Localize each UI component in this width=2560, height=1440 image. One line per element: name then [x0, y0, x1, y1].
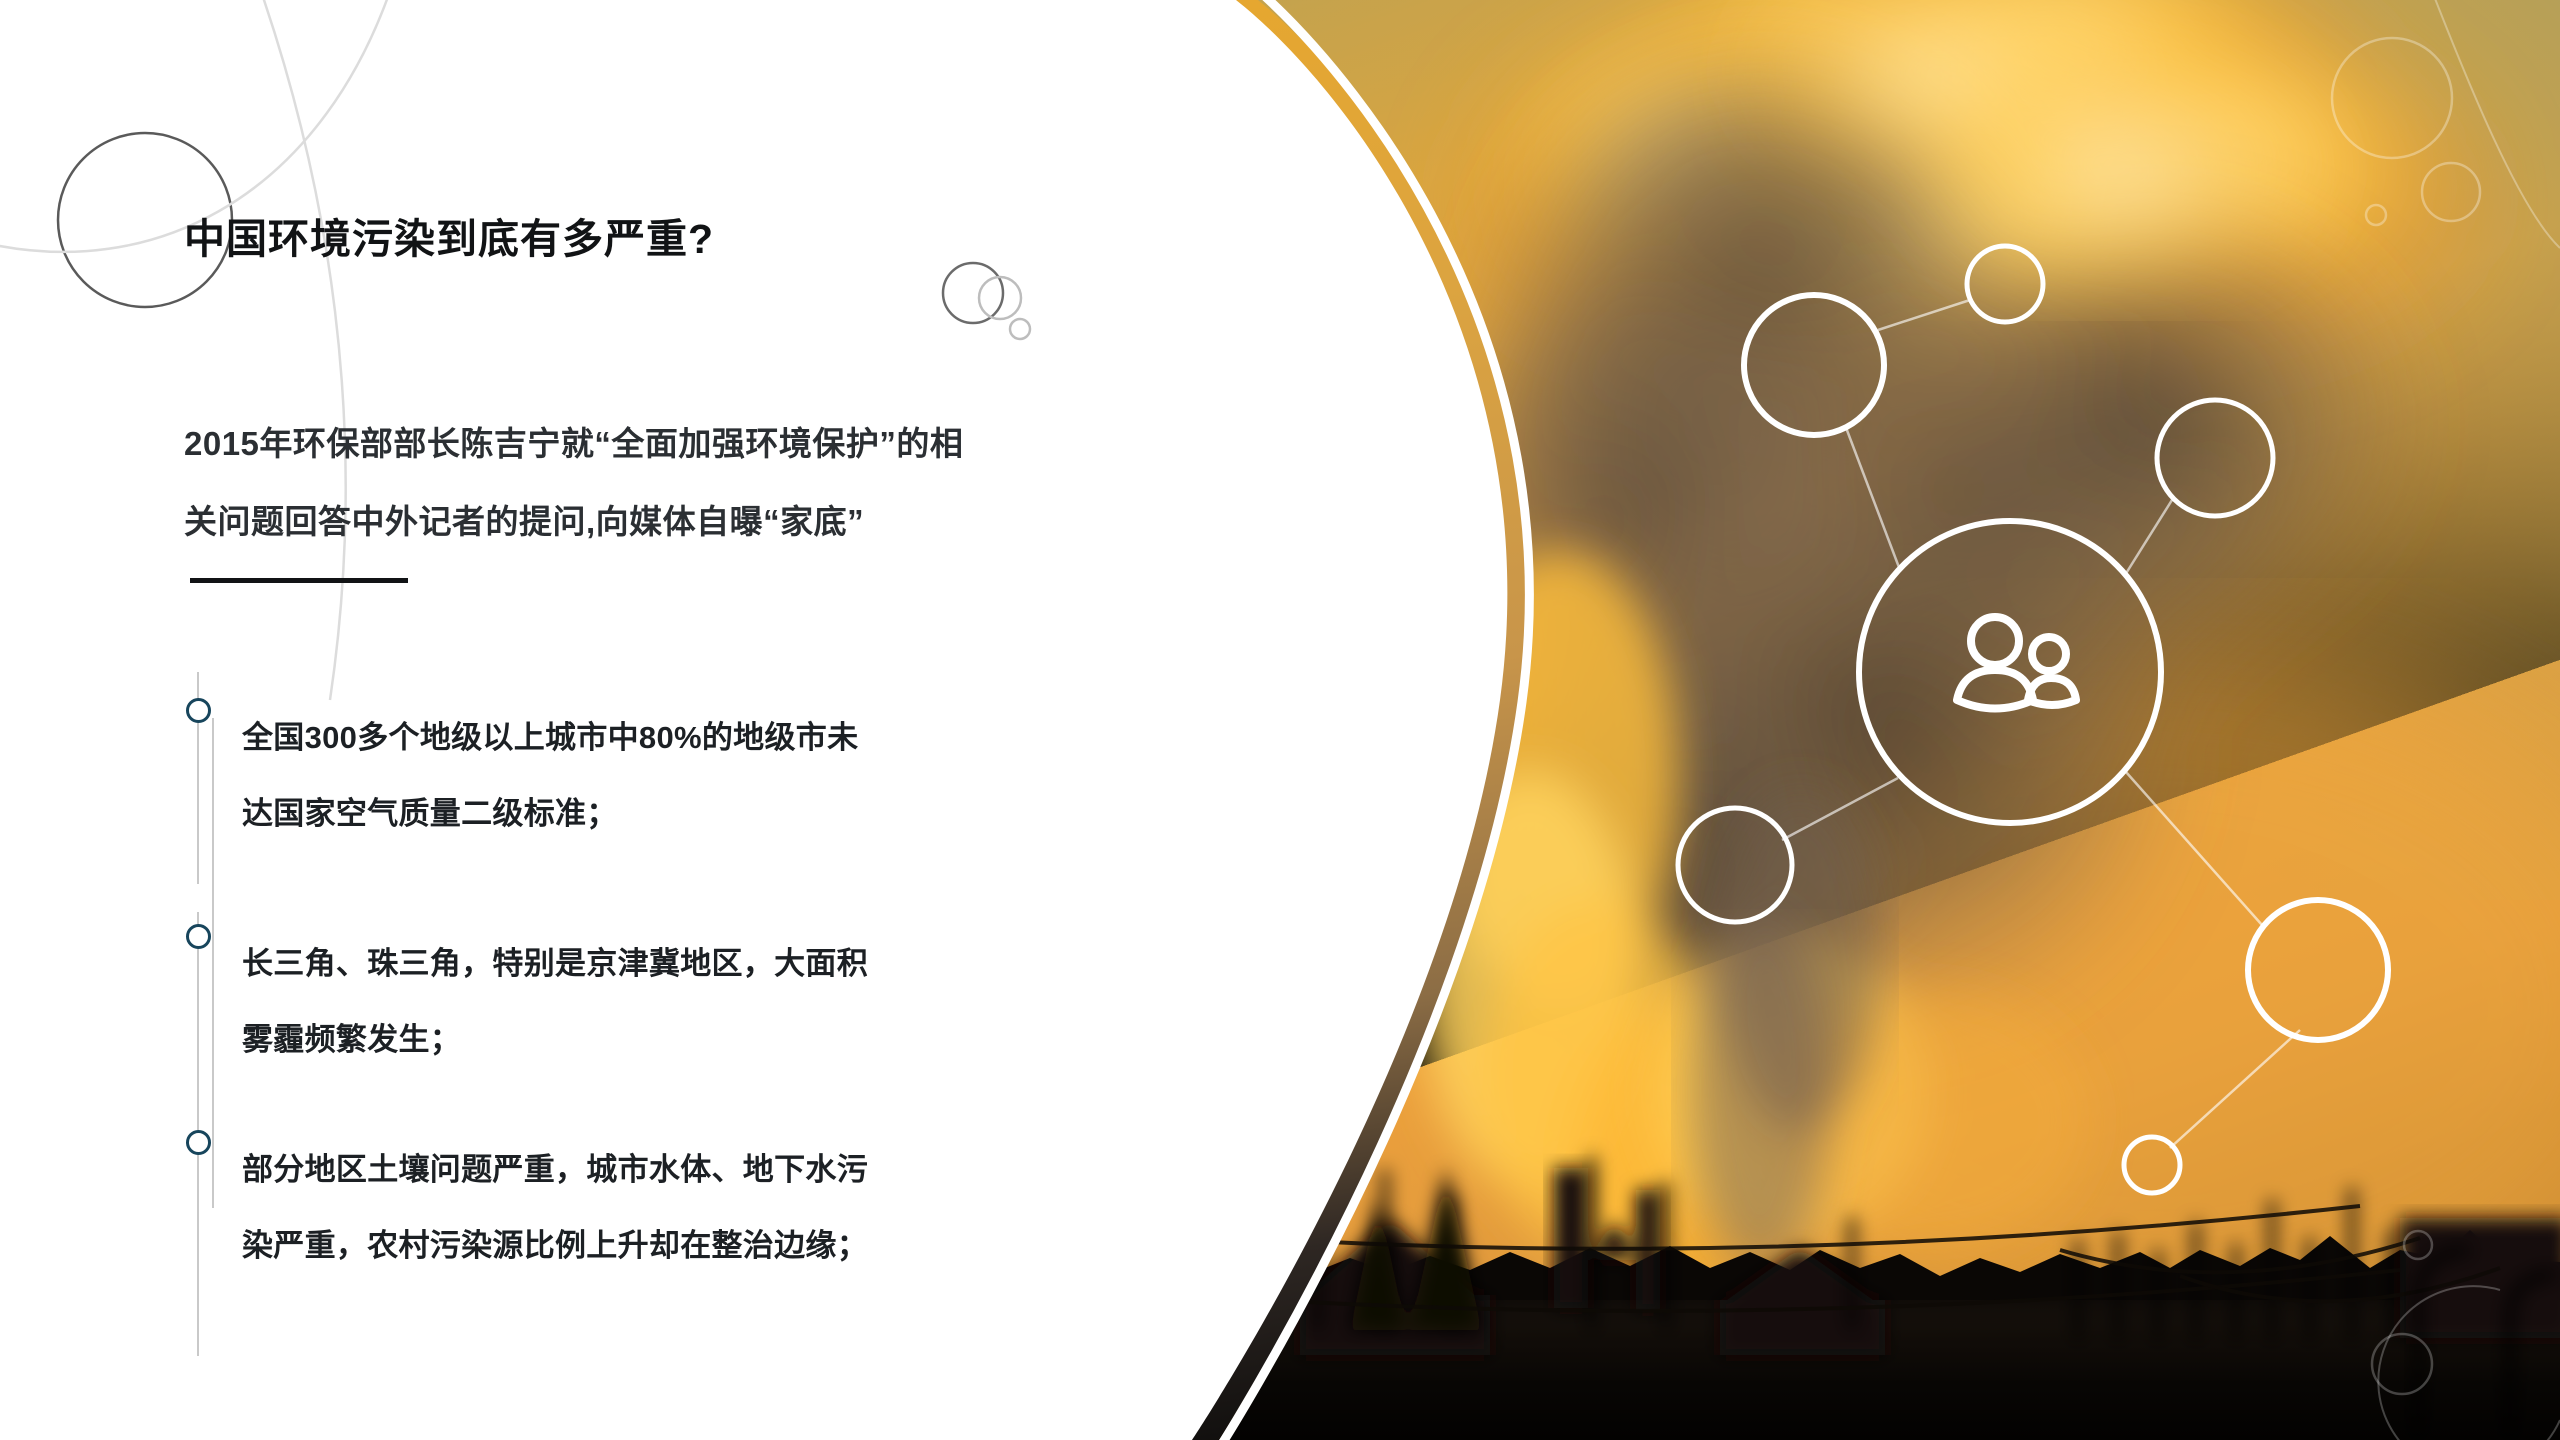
- list-item: 长三角、珠三角，特别是京津冀地区，大面积 雾霾频繁发生；: [242, 926, 1222, 1078]
- slide-root: 中国环境污染到底有多严重? 2015年环保部部长陈吉宁就“全面加强环境保护”的相…: [0, 0, 2560, 1440]
- timeline-rail-b: [212, 718, 214, 966]
- list-item: 部分地区土壤问题严重，城市水体、地下水污 染严重，农村污染源比例上升却在整治边缘…: [242, 1132, 1222, 1284]
- timeline-rail-d: [212, 958, 214, 1208]
- timeline-rail-e: [197, 1156, 199, 1356]
- bullet-1-line-2: 达国家空气质量二级标准；: [242, 776, 1222, 852]
- bullet-1-line-1: 全国300多个地级以上城市中80%的地级市未: [242, 700, 1222, 776]
- timeline: 全国300多个地级以上城市中80%的地级市未 达国家空气质量二级标准； 长三角、…: [0, 0, 1260, 1440]
- list-item: 全国300多个地级以上城市中80%的地级市未 达国家空气质量二级标准；: [242, 700, 1222, 852]
- bullet-3-line-1: 部分地区土壤问题严重，城市水体、地下水污: [242, 1132, 1222, 1208]
- text-column: 中国环境污染到底有多严重? 2015年环保部部长陈吉宁就“全面加强环境保护”的相…: [0, 0, 1260, 1440]
- bullet-2-line-1: 长三角、珠三角，特别是京津冀地区，大面积: [242, 926, 1222, 1002]
- timeline-dot-3: [186, 1130, 211, 1155]
- photo-content: [1150, 0, 2560, 1440]
- timeline-dot-2: [186, 924, 211, 949]
- bullet-3-line-2: 染严重，农村污染源比例上升却在整治边缘；: [242, 1208, 1222, 1284]
- timeline-dot-1: [186, 698, 211, 723]
- bullet-2-line-2: 雾霾频繁发生；: [242, 1002, 1222, 1078]
